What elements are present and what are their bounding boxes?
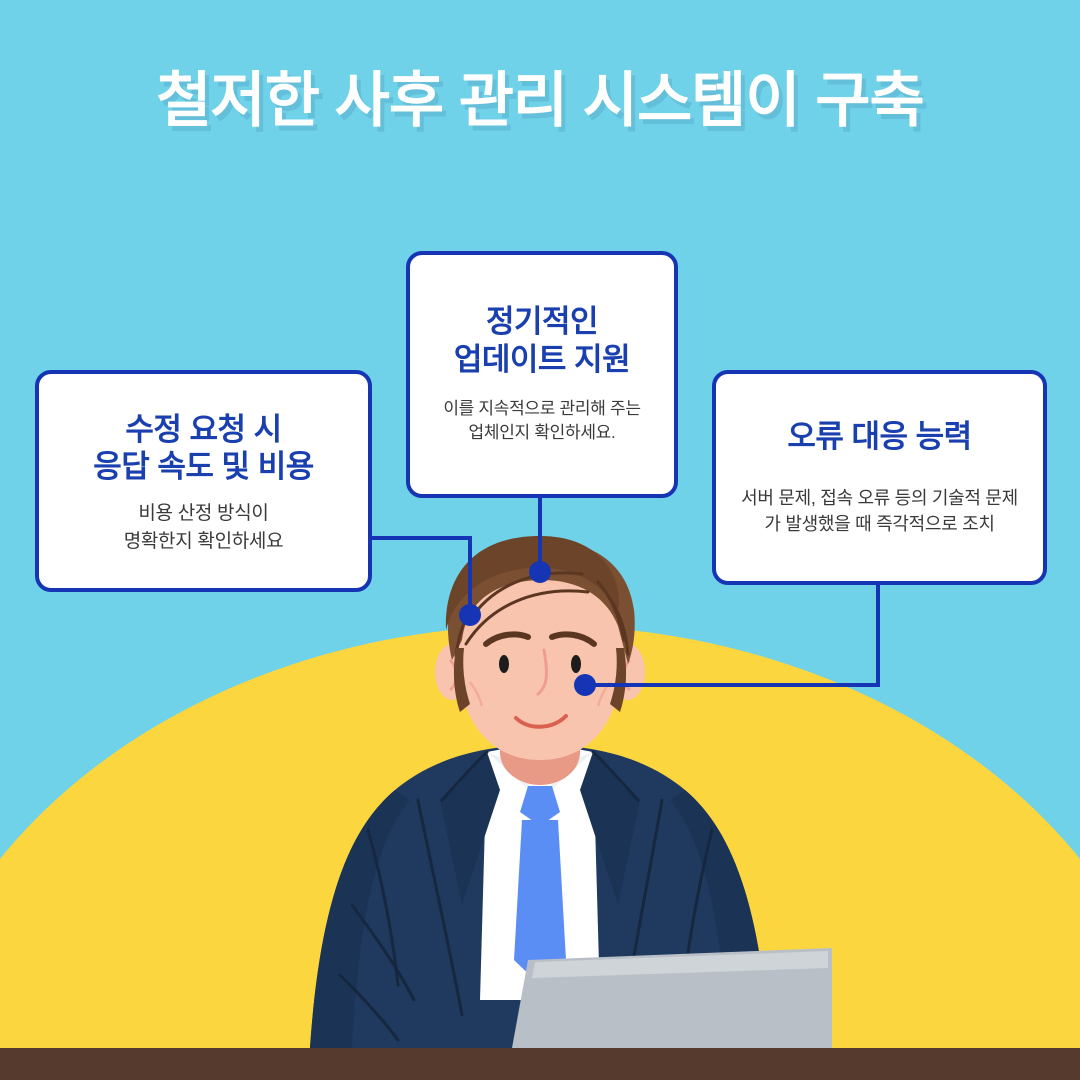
eye-right <box>571 655 581 673</box>
card-heading: 오류 대응 능력 <box>787 418 971 456</box>
card-heading: 수정 요청 시 응답 속도 및 비용 <box>93 411 313 487</box>
card-error-response[interactable]: 오류 대응 능력 서버 문제, 접속 오류 등의 기술적 문제 가 발생했을 때… <box>712 370 1047 585</box>
card-revision-cost[interactable]: 수정 요청 시 응답 속도 및 비용 비용 산정 방식이 명확한지 확인하세요 <box>35 370 372 592</box>
card-body: 서버 문제, 접속 오류 등의 기술적 문제 가 발생했을 때 즉각적으로 조치 <box>741 485 1018 537</box>
page-title: 철저한 사후 관리 시스템이 구축 <box>0 52 1080 139</box>
card-heading: 정기적인 업데이트 지원 <box>454 303 630 379</box>
card-body: 이를 지속적으로 관리해 주는 업체인지 확인하세요. <box>443 397 640 446</box>
card-regular-update[interactable]: 정기적인 업데이트 지원 이를 지속적으로 관리해 주는 업체인지 확인하세요. <box>406 251 678 498</box>
desk-surface <box>0 1048 1080 1080</box>
card-body: 비용 산정 방식이 명확한지 확인하세요 <box>124 500 284 555</box>
eye-left <box>499 655 509 673</box>
laptop <box>512 948 832 1048</box>
